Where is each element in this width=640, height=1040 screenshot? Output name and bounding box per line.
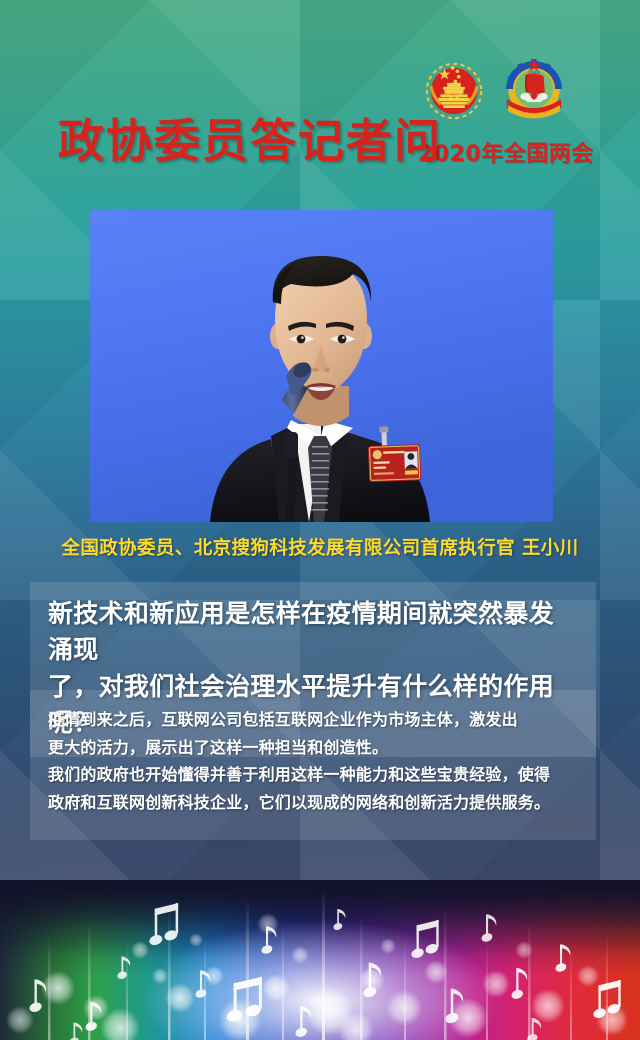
music-notes-footer [0,880,640,1040]
emblem-group: 1949 ★ ★ ★ ★ ★ [420,57,568,125]
question-line-1: 新技术和新应用是怎样在疫情期间就突然暴发涌现 [48,596,578,669]
press-conference-photo [90,210,553,522]
answer-line-4: 政府和互联网创新科技企业，它们以现成的网络和创新活力提供服务。 [48,789,578,817]
speaker-illustration [90,210,553,522]
answer-line-3: 我们的政府也开始懂得并善于利用这样一种能力和这些宝贵经验，使得 [48,761,578,789]
year-label: 2020年全国两会 [418,136,588,168]
header: 1949 ★ ★ ★ ★ ★ 2020年全国两会 政协委员答记者问 [0,0,640,210]
answer-line-1: 疫情到来之后，互联网公司包括互联网企业作为市场主体，激发出 [48,706,578,734]
page-title: 政协委员答记者问 [58,118,442,164]
cppcc-emblem-icon: 1949 ★ ★ ★ ★ ★ [500,57,568,125]
poster-root: 1949 ★ ★ ★ ★ ★ 2020年全国两会 政协委员答记者问 [0,0,640,1040]
answer-line-2: 更大的活力，展示出了这样一种担当和创造性。 [48,734,578,762]
answer-panel: 疫情到来之后，互联网公司包括互联网企业作为市场主体，激发出 更大的活力，展示出了… [30,690,596,840]
speaker-caption: 全国政协委员、北京搜狗科技发展有限公司首席执行官 王小川 [0,534,640,560]
svg-text:★ ★ ★ ★ ★: ★ ★ ★ ★ ★ [522,109,546,114]
